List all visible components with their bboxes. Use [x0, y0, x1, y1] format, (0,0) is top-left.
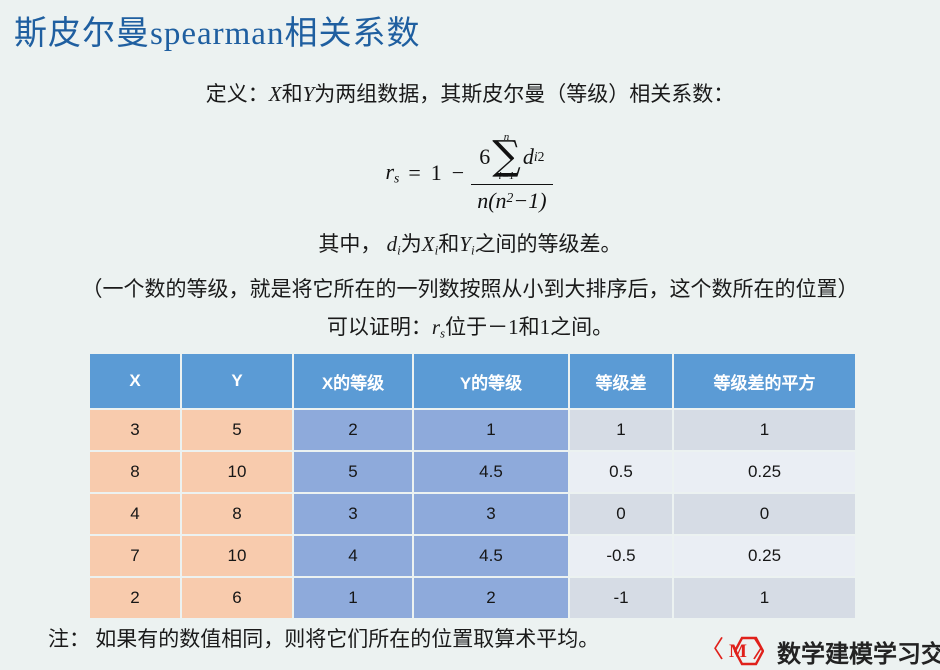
cell-y: 8 — [182, 494, 292, 534]
col-header-x-rank: X的等级 — [294, 354, 412, 408]
formula-one: 1 — [431, 160, 442, 186]
cell-x: 4 — [90, 494, 180, 534]
logo-hexagon-icon: M — [724, 634, 752, 668]
definition-mid: 和 — [282, 82, 303, 106]
table-row: 7 10 4 4.5 -0.5 0.25 — [90, 536, 855, 576]
logo-letter-m: M — [729, 642, 747, 661]
cell-x-rank: 5 — [294, 452, 412, 492]
col-header-y-rank: Y的等级 — [414, 354, 568, 408]
cell-rank-diff: -1 — [570, 578, 672, 618]
where-d: d — [387, 232, 398, 256]
summation-operator: n ∑ i=1 — [492, 132, 521, 182]
col-header-x: X — [90, 354, 180, 408]
cell-x: 7 — [90, 536, 180, 576]
formula-lhs-sub: s — [394, 171, 399, 186]
table-row: 8 10 5 4.5 0.5 0.25 — [90, 452, 855, 492]
definition-line: 定义：X和Y为两组数据，其斯皮尔曼（等级）相关系数： — [0, 78, 940, 108]
col-header-y: Y — [182, 354, 292, 408]
cell-rank-diff: 1 — [570, 410, 672, 450]
cell-x-rank: 2 — [294, 410, 412, 450]
note-text: 如果有的数值相同，则将它们所在的位置取算术平均。 — [95, 627, 599, 651]
formula-d-var: d — [523, 144, 534, 170]
cell-x: 3 — [90, 410, 180, 450]
watermark-logo: 〈 M 〉 数学建模学习交流 — [700, 632, 940, 670]
cell-rank-diff: -0.5 — [570, 536, 672, 576]
den-close: ) — [539, 188, 546, 213]
sigma-glyph: ∑ — [492, 140, 521, 173]
formula-lhs-r: r — [385, 159, 394, 184]
table-row: 4 8 3 3 0 0 — [90, 494, 855, 534]
spearman-formula: rs = 1 − 6 n ∑ i=1 di2 n(n2−1) — [0, 128, 940, 218]
cell-rank-diff-sq: 0 — [674, 494, 855, 534]
cell-rank-diff-sq: 1 — [674, 410, 855, 450]
cell-rank-diff-sq: 0.25 — [674, 452, 855, 492]
cell-x: 8 — [90, 452, 180, 492]
where-x: X — [422, 232, 435, 256]
formula-fraction: 6 n ∑ i=1 di2 n(n2−1) — [471, 132, 552, 214]
den-minus: − — [513, 188, 528, 213]
proof-suffix: 位于－1和1之间。 — [445, 315, 613, 339]
where-suffix: 之间的等级差。 — [475, 232, 622, 256]
footer-note: 注： 如果有的数值相同，则将它们所在的位置取算术平均。 — [48, 623, 599, 653]
cell-x-rank: 4 — [294, 536, 412, 576]
cell-y: 10 — [182, 452, 292, 492]
formula-equals: = — [408, 160, 420, 186]
note-prefix: 注： — [48, 627, 90, 651]
logo-bracket-left-icon: 〈 — [700, 638, 724, 662]
logo-text: 数学建模学习交流 — [777, 634, 940, 669]
cell-y-rank: 3 — [414, 494, 568, 534]
formula-d-sup: 2 — [538, 149, 545, 165]
definition-suffix: 为两组数据，其斯皮尔曼（等级）相关系数： — [314, 82, 734, 106]
sigma-lower-limit: i=1 — [499, 171, 515, 182]
proof-prefix: 可以证明： — [327, 315, 432, 339]
formula-minus: − — [452, 160, 464, 186]
cell-y-rank: 2 — [414, 578, 568, 618]
cell-y: 6 — [182, 578, 292, 618]
where-y: Y — [459, 232, 471, 256]
formula-lhs: rs — [385, 159, 399, 186]
cell-rank-diff: 0 — [570, 494, 672, 534]
cell-y-rank: 4.5 — [414, 536, 568, 576]
parenthetical-line: （一个数的等级，就是将它所在的一列数按照从小到大排序后，这个数所在的位置） — [0, 273, 940, 303]
where-prefix: 其中， — [318, 232, 381, 256]
cell-rank-diff-sq: 1 — [674, 578, 855, 618]
where-mid2: 和 — [438, 232, 459, 256]
slide-title: 斯皮尔曼spearman相关系数 — [14, 6, 420, 54]
formula-denominator: n(n2−1) — [471, 185, 552, 214]
cell-rank-diff-sq: 0.25 — [674, 536, 855, 576]
cell-y: 10 — [182, 536, 292, 576]
definition-prefix: 定义： — [206, 82, 269, 106]
table-header-row: X Y X的等级 Y的等级 等级差 等级差的平方 — [90, 354, 855, 408]
col-header-rank-diff: 等级差 — [570, 354, 672, 408]
cell-y-rank: 1 — [414, 410, 568, 450]
cell-x-rank: 3 — [294, 494, 412, 534]
where-line: 其中， di为Xi和Yi之间的等级差。 — [0, 228, 940, 258]
den-open: ( — [488, 188, 495, 213]
proof-line: 可以证明：rs位于－1和1之间。 — [0, 311, 940, 341]
definition-var-x: X — [269, 82, 282, 106]
slide-root: 斯皮尔曼spearman相关系数 定义：X和Y为两组数据，其斯皮尔曼（等级）相关… — [0, 0, 940, 670]
den-n2: n — [496, 188, 507, 213]
col-header-rank-diff-sq: 等级差的平方 — [674, 354, 855, 408]
spearman-rank-table: X Y X的等级 Y的等级 等级差 等级差的平方 3 5 2 1 1 1 8 1… — [88, 352, 857, 620]
den-one: 1 — [528, 188, 539, 213]
formula-numerator: 6 n ∑ i=1 di2 — [473, 132, 550, 184]
cell-y: 5 — [182, 410, 292, 450]
logo-bracket-right-icon: 〉 — [752, 638, 776, 662]
proof-r: r — [432, 315, 440, 339]
cell-x-rank: 1 — [294, 578, 412, 618]
table-row: 2 6 1 2 -1 1 — [90, 578, 855, 618]
cell-rank-diff: 0.5 — [570, 452, 672, 492]
formula-coeff: 6 — [479, 144, 490, 170]
table-row: 3 5 2 1 1 1 — [90, 410, 855, 450]
definition-var-y: Y — [303, 82, 315, 106]
cell-x: 2 — [90, 578, 180, 618]
where-mid1: 为 — [401, 232, 422, 256]
den-n: n — [477, 188, 488, 213]
cell-y-rank: 4.5 — [414, 452, 568, 492]
